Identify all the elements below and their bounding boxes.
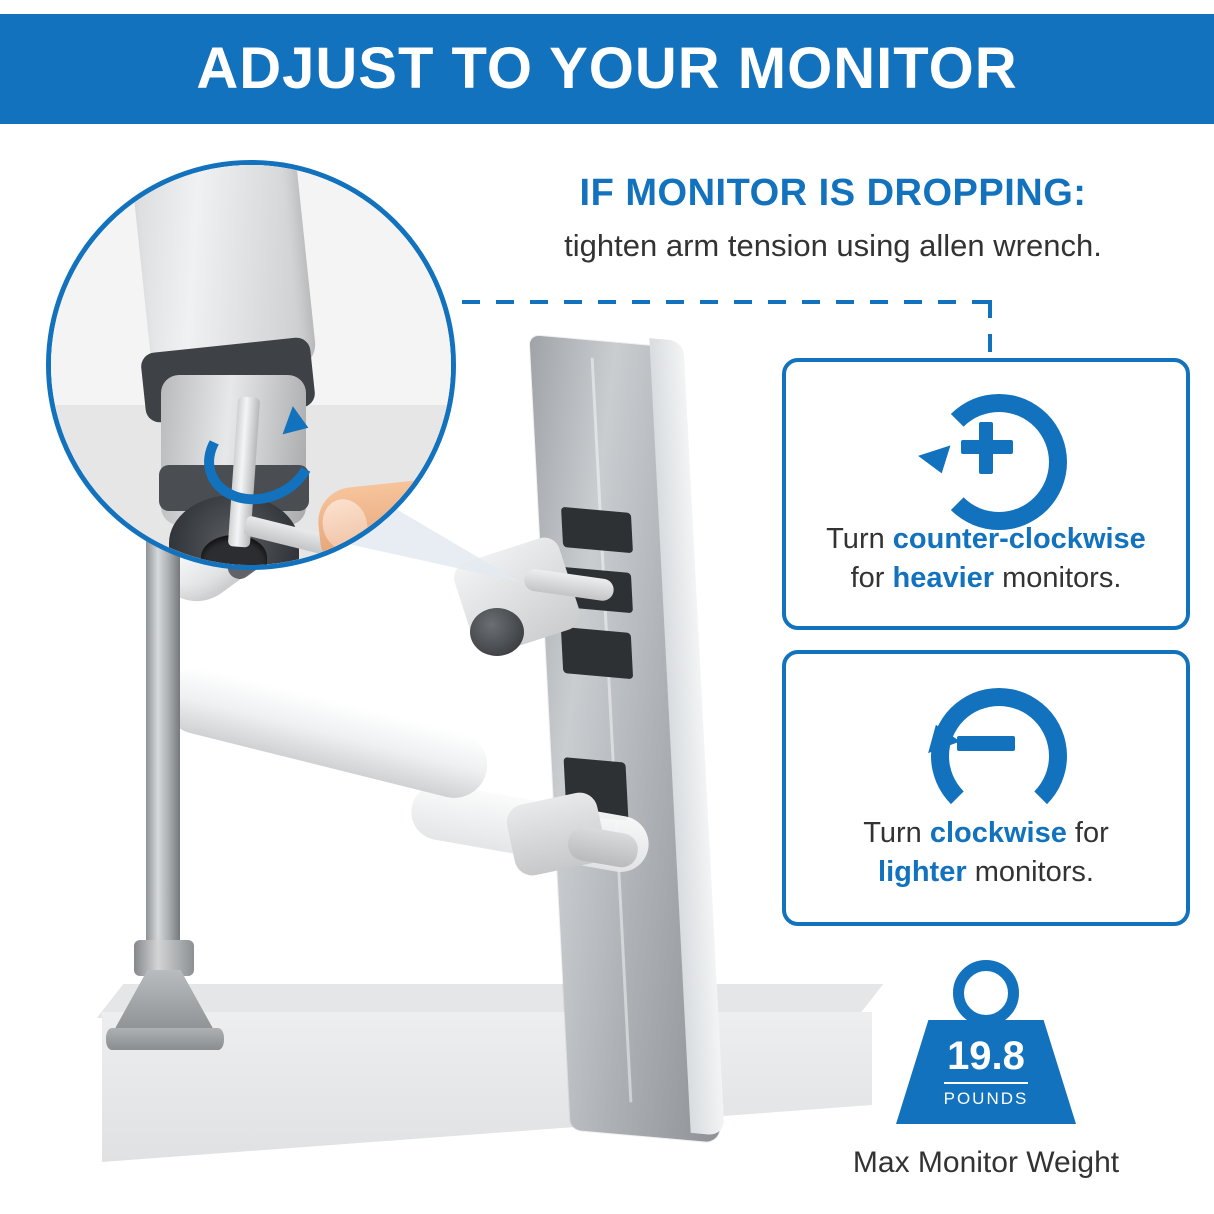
instruction-body: tighten arm tension using allen wrench. (468, 226, 1198, 266)
card1-line1-prefix: Turn (826, 523, 893, 555)
arm-lower-segment (158, 661, 494, 805)
monitor-vent-1 (561, 507, 633, 553)
page-title: ADJUST TO YOUR MONITOR (196, 40, 1017, 98)
weight-caption: Max Monitor Weight (836, 1146, 1136, 1180)
weight-unit: POUNDS (944, 1082, 1029, 1109)
callout-card-counter-clockwise: Turn counter-clockwise for heavier monit… (782, 358, 1190, 630)
card2-line1-prefix: Turn (863, 817, 930, 849)
card2-line2-bold: lighter (878, 856, 967, 888)
mount-base-plate (106, 1028, 224, 1050)
callout-card-clockwise: Turn clockwise for lighter monitors. (782, 650, 1190, 926)
card1-line2-prefix: for (851, 562, 893, 594)
card2-line1-suffix: for (1067, 817, 1109, 849)
card1-line2-suffix: monitors. (994, 562, 1121, 594)
max-weight-badge: 19.8 POUNDS Max Monitor Weight (836, 960, 1136, 1180)
plus-icon-vertical (979, 422, 993, 474)
rotation-ring (931, 688, 1067, 824)
header-banner: ADJUST TO YOUR MONITOR (0, 14, 1214, 124)
zoom-inset-circle (46, 160, 456, 570)
dashed-connector-horizontal (462, 300, 992, 304)
card2-line2-suffix: monitors. (967, 856, 1094, 888)
weight-value: 19.8 (947, 1036, 1025, 1076)
minus-rotation-icon (927, 684, 1045, 802)
tilt-head-knob (470, 608, 524, 656)
card1-line2-bold: heavier (892, 562, 994, 594)
monitor-vent-3 (561, 627, 633, 679)
minus-icon-bar (957, 736, 1015, 751)
weight-icon-body: 19.8 POUNDS (896, 1020, 1076, 1124)
weight-handle-icon (953, 960, 1019, 1026)
card1-line1-bold: counter-clockwise (893, 523, 1146, 555)
callout-text-counter-clockwise: Turn counter-clockwise for heavier monit… (810, 520, 1162, 598)
callout-text-clockwise: Turn clockwise for lighter monitors. (847, 814, 1125, 892)
plus-rotation-icon (927, 390, 1045, 508)
instruction-heading: IF MONITOR IS DROPPING: (468, 172, 1198, 216)
instruction-block: IF MONITOR IS DROPPING: tighten arm tens… (468, 172, 1198, 266)
dashed-connector-vertical (988, 300, 992, 360)
